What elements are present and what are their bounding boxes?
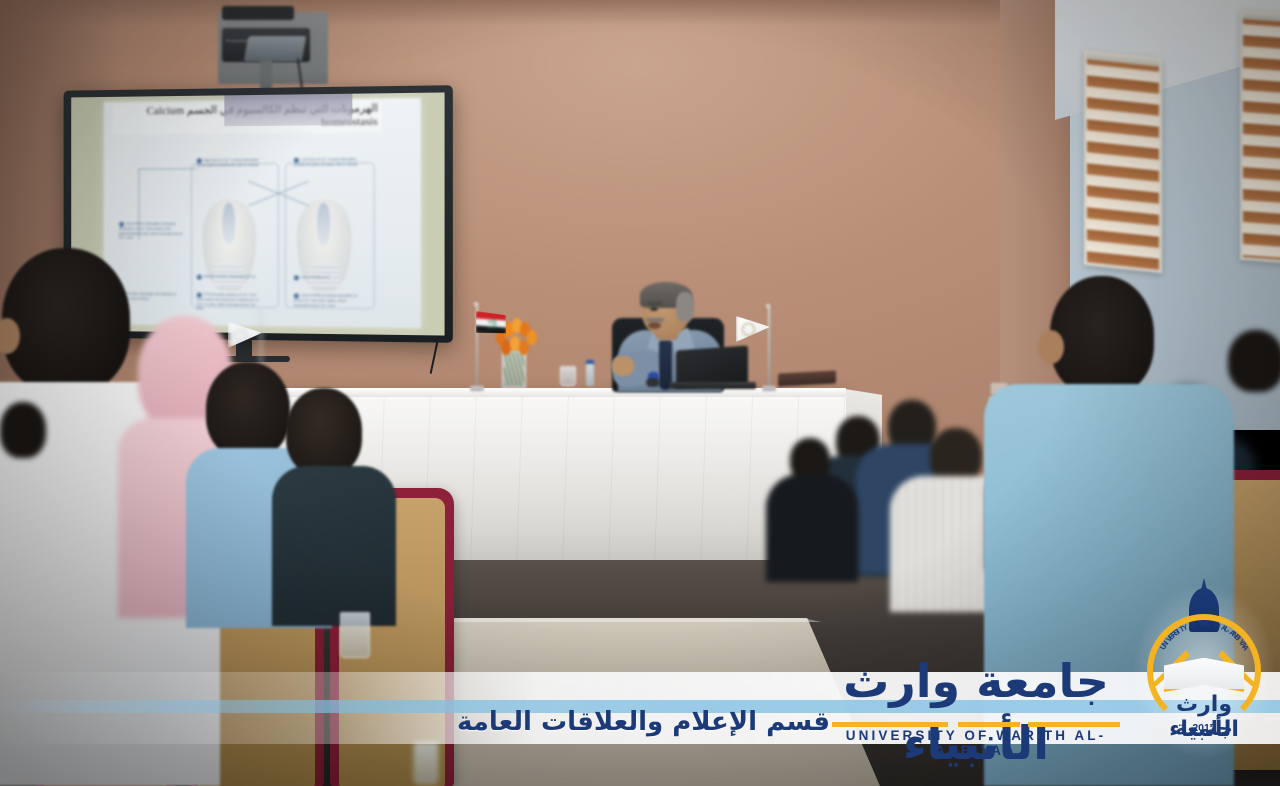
diagram-note-number: 5	[197, 275, 202, 280]
laptop-base[interactable]	[670, 382, 756, 389]
drinking-glass	[560, 366, 576, 386]
diagram-note-number: 2	[294, 275, 299, 280]
calcium-homeostasis-diagram: 1High level of Ca²⁺ in blood stimulates …	[116, 155, 412, 323]
wordmark-arabic: جامعة وارث الأنبياء	[826, 650, 1126, 712]
flag-base	[470, 386, 484, 391]
screenshot-root: Promethean الهرمونات التي تنظم الكالسيوم…	[0, 0, 1280, 786]
diagram-note: 6PTH promotes release of Ca²⁺ from bone …	[197, 293, 262, 312]
speaker-mouth	[648, 322, 661, 329]
diagram-note-text: CALCITONIN promotes deposition of blood …	[294, 294, 357, 308]
window-left	[1084, 50, 1162, 273]
diagram-note-text: Low level of Ca²⁺ in blood stimulates pa…	[294, 157, 358, 166]
window-blinds	[1087, 53, 1159, 270]
speaker-hair-side	[676, 292, 694, 322]
iraq-flag-inscription: الله أكبر	[484, 320, 500, 326]
speaker-eye	[650, 307, 658, 311]
speaker-eyebrow	[648, 302, 662, 305]
university-wordmark: جامعة وارث الأنبياء UNIVERSITY OF WARITH…	[826, 652, 1126, 748]
diagram-connector	[139, 168, 197, 169]
diagram-note: 4Low level of Ca²⁺ in blood stimulates p…	[294, 157, 361, 167]
diagram-note: 3CALCITONIN promotes deposition of blood…	[294, 294, 361, 309]
speaker-hand-left	[612, 356, 634, 376]
diagram-note: 5PARATHYROID HORMONE (PTH)	[197, 275, 268, 280]
ceiling-shadow	[0, 0, 1060, 26]
pennant-seal-icon	[234, 329, 247, 342]
wordmark-english: UNIVERSITY OF WARITH AL-ANBIYAA	[826, 728, 1126, 758]
projector-stem	[260, 60, 272, 90]
department-label: قسم الإعلام والعلاقات العامة	[420, 700, 830, 744]
projector-arm	[222, 6, 294, 20]
mouse[interactable]	[646, 378, 660, 387]
window-right	[1240, 10, 1280, 268]
drinking-glass	[340, 612, 370, 658]
diagram-note: 1High level of Ca²⁺ in blood stimulates …	[197, 158, 262, 168]
diagram-note-text: CALCITONIN (CT)	[301, 275, 329, 279]
diagram-note-text: PARATHYROID HORMONE (PTH)	[203, 275, 255, 279]
flag-base	[762, 386, 776, 391]
water-bottle	[586, 364, 594, 386]
screen-glare	[224, 94, 352, 127]
water-bottle	[414, 742, 438, 784]
wordmark-gold-bar	[958, 722, 1020, 727]
university-seal-logo: UNIVERSITY OF WARITH AL-ANBIYAA وارث الأ…	[1138, 588, 1270, 754]
wordmark-gold-bar	[1028, 722, 1120, 727]
diagram-note-text: PTH promotes release of Ca²⁺ from bone m…	[197, 293, 258, 311]
wordmark-gold-bar	[832, 722, 948, 727]
seal-year: 2017	[1138, 722, 1270, 734]
diagram-note-text: High level of Ca²⁺ in blood stimulates t…	[197, 158, 259, 167]
slide: الهرمونات التي تنظم الكالسيوم في الجسم C…	[104, 98, 422, 328]
pennant-seal-icon	[742, 323, 755, 336]
diagram-note: 8CALCITRIOL stimulates increased absorpt…	[119, 222, 183, 241]
window-blinds	[1243, 13, 1280, 265]
diagram-note: 2CALCITONIN (CT)	[294, 275, 361, 281]
diagram-note-text: CALCITRIOL stimulates increased absorpti…	[119, 222, 183, 240]
flag-pole	[768, 306, 770, 388]
